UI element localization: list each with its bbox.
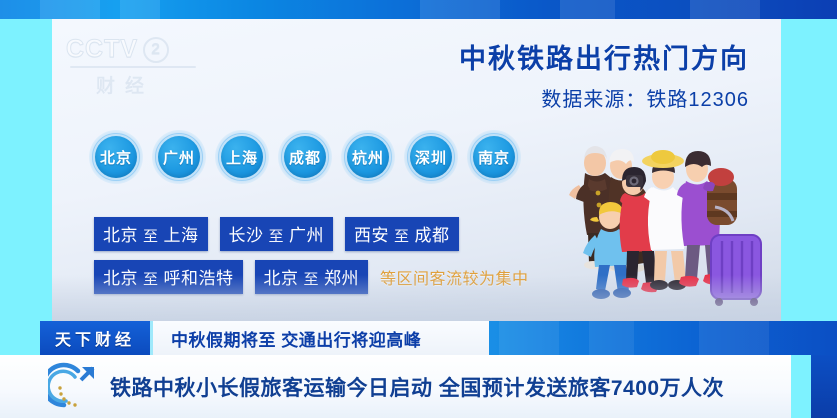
infographic-panel: CCTV 2 财经 中秋铁路出行热门方向 数据来源：铁路12306 北京 广州 — [52, 19, 781, 321]
route-connector: 至 — [143, 225, 159, 246]
city-circle-nanjing[interactable]: 南京 — [470, 133, 518, 181]
cctv-finance-swoosh-icon — [48, 361, 100, 413]
route-row: 北京 至 上海 长沙 至 广州 西安 至 成都 — [94, 217, 529, 251]
route-tag-group: 北京 至 上海 长沙 至 广州 西安 至 成都 北京 至 — [94, 217, 529, 303]
route-destination: 成都 — [415, 221, 450, 246]
lower-bar-left-rail — [0, 321, 40, 355]
city-circle-shanghai[interactable]: 上海 — [218, 133, 266, 181]
ticker-text-wrapper: 铁路中秋小长假旅客运输今日启动 全国预计发送旅客7400万人次 — [110, 355, 724, 418]
city-label: 成都 — [289, 147, 321, 168]
city-circle-hangzhou[interactable]: 杭州 — [344, 133, 392, 181]
cctv-logo-subtitle: 财经 — [96, 71, 216, 98]
route-destination: 上海 — [164, 221, 199, 246]
headline-label: 中秋假期将至 交通出行将迎高峰 — [171, 326, 421, 351]
route-origin: 北京 — [103, 221, 138, 246]
city-circle-guangzhou[interactable]: 广州 — [155, 133, 203, 181]
route-tag[interactable]: 西安 至 成都 — [345, 217, 459, 251]
page-title: 中秋铁路出行热门方向 — [459, 37, 749, 76]
broadcast-frame: CCTV 2 财经 中秋铁路出行热门方向 数据来源：铁路12306 北京 广州 — [0, 0, 837, 418]
lower-bar-gradient-fill — [489, 321, 837, 355]
title-block: 中秋铁路出行热门方向 数据来源：铁路12306 — [459, 37, 749, 112]
lower-third-bar: 天下财经 中秋假期将至 交通出行将迎高峰 — [0, 321, 837, 355]
news-ticker: 铁路中秋小长假旅客运输今日启动 全国预计发送旅客7400万人次 — [0, 355, 837, 418]
city-circle-list: 北京 广州 上海 成都 杭州 — [92, 133, 518, 181]
route-connector: 至 — [394, 225, 410, 246]
cctv-channel-logo: CCTV 2 财经 — [66, 35, 216, 95]
left-cyan-rail — [0, 19, 52, 321]
city-label: 上海 — [226, 147, 258, 168]
route-connector: 至 — [269, 225, 285, 246]
route-destination: 广州 — [289, 221, 324, 246]
ticker-right-block — [811, 355, 837, 418]
program-name-badge: 天下财经 — [40, 321, 150, 355]
city-circle-shenzhen[interactable]: 深圳 — [407, 133, 455, 181]
route-origin: 西安 — [354, 221, 389, 246]
route-connector: 至 — [143, 268, 159, 289]
city-label: 杭州 — [352, 147, 384, 168]
route-origin: 长沙 — [229, 221, 264, 246]
city-circle-chengdu[interactable]: 成都 — [281, 133, 329, 181]
city-label: 广州 — [163, 147, 195, 168]
program-name-label: 天下财经 — [55, 326, 135, 350]
cctv-logo-text: CCTV — [66, 35, 138, 64]
city-label: 深圳 — [415, 147, 447, 168]
route-note-label: 等区间客流较为集中 — [380, 265, 529, 289]
route-destination: 呼和浩特 — [164, 264, 234, 289]
city-circle-beijing[interactable]: 北京 — [92, 133, 140, 181]
top-gradient-banner — [0, 0, 837, 19]
city-label: 北京 — [100, 147, 132, 168]
route-origin: 北京 — [103, 264, 138, 289]
route-tag[interactable]: 北京 至 上海 — [94, 217, 208, 251]
route-tag[interactable]: 北京 至 郑州 — [255, 260, 369, 294]
headline-plate: 中秋假期将至 交通出行将迎高峰 — [150, 321, 489, 355]
ticker-right-rail — [791, 355, 837, 418]
right-cyan-rail — [781, 19, 837, 321]
route-connector: 至 — [304, 268, 320, 289]
data-source-label: 数据来源：铁路12306 — [459, 83, 749, 112]
cctv-logo-underline — [70, 66, 196, 68]
route-tag[interactable]: 北京 至 呼和浩特 — [94, 260, 243, 294]
route-row: 北京 至 呼和浩特 北京 至 郑州 等区间客流较为集中 — [94, 260, 529, 294]
ticker-headline: 铁路中秋小长假旅客运输今日启动 全国预计发送旅客7400万人次 — [110, 372, 724, 402]
route-tag[interactable]: 长沙 至 广州 — [220, 217, 334, 251]
city-label: 南京 — [478, 147, 510, 168]
route-destination: 郑州 — [324, 264, 359, 289]
cctv-logo-number: 2 — [143, 37, 169, 63]
family-travellers-illustration — [555, 123, 765, 313]
route-origin: 北京 — [264, 264, 299, 289]
